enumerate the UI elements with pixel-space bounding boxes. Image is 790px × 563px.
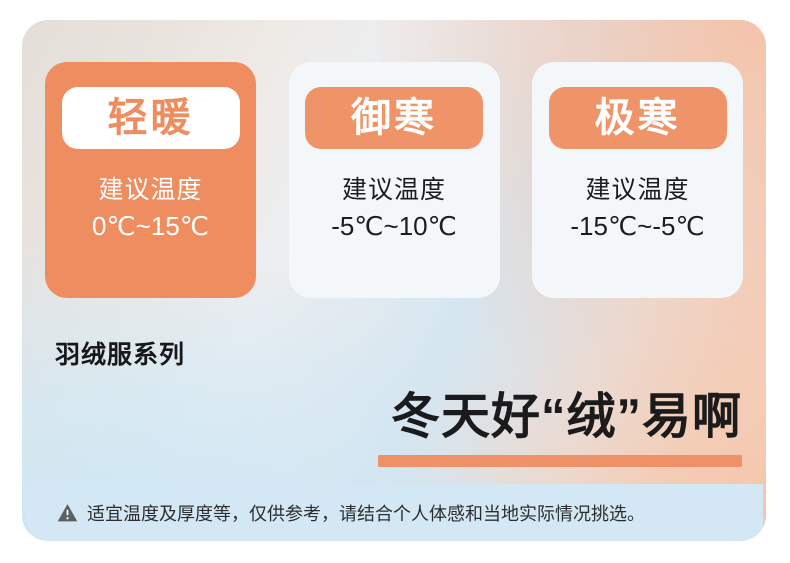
warmth-card-cold-resistant[interactable]: 御寒 建议温度 -5℃~10℃ (289, 62, 500, 298)
series-label: 羽绒服系列 (55, 335, 185, 371)
warmth-card-light-warm[interactable]: 轻暖 建议温度 0℃~15℃ (45, 62, 256, 298)
temperature-label: 建议温度 (98, 174, 202, 207)
warmth-badge: 轻暖 (62, 87, 240, 149)
footer-disclaimer: 适宜温度及厚度等，仅供参考，请结合个人体感和当地实际情况挑选。 (25, 484, 763, 541)
content-panel: 轻暖 建议温度 0℃~15℃ 御寒 建议温度 -5℃~10℃ 极寒 建议温度 -… (22, 20, 766, 541)
warmth-card-extreme-cold[interactable]: 极寒 建议温度 -15℃~-5℃ (532, 62, 743, 298)
headline-block: 冬天好“绒”易啊 (378, 390, 742, 467)
warmth-badge: 极寒 (549, 87, 727, 149)
warmth-level-card-list: 轻暖 建议温度 0℃~15℃ 御寒 建议温度 -5℃~10℃ 极寒 建议温度 -… (45, 62, 743, 298)
temperature-range: 0℃~15℃ (92, 209, 209, 243)
headline-underline-bar (378, 455, 742, 467)
warning-triangle-icon (57, 503, 78, 522)
temperature-label: 建议温度 (342, 174, 446, 207)
temperature-range: -15℃~-5℃ (570, 209, 704, 243)
temperature-label: 建议温度 (585, 174, 689, 207)
promo-banner: 轻暖 建议温度 0℃~15℃ 御寒 建议温度 -5℃~10℃ 极寒 建议温度 -… (0, 0, 790, 563)
footer-disclaimer-text: 适宜温度及厚度等，仅供参考，请结合个人体感和当地实际情况挑选。 (87, 500, 645, 526)
warmth-badge: 御寒 (305, 87, 483, 149)
headline-text: 冬天好“绒”易啊 (378, 390, 742, 445)
temperature-range: -5℃~10℃ (331, 209, 457, 243)
